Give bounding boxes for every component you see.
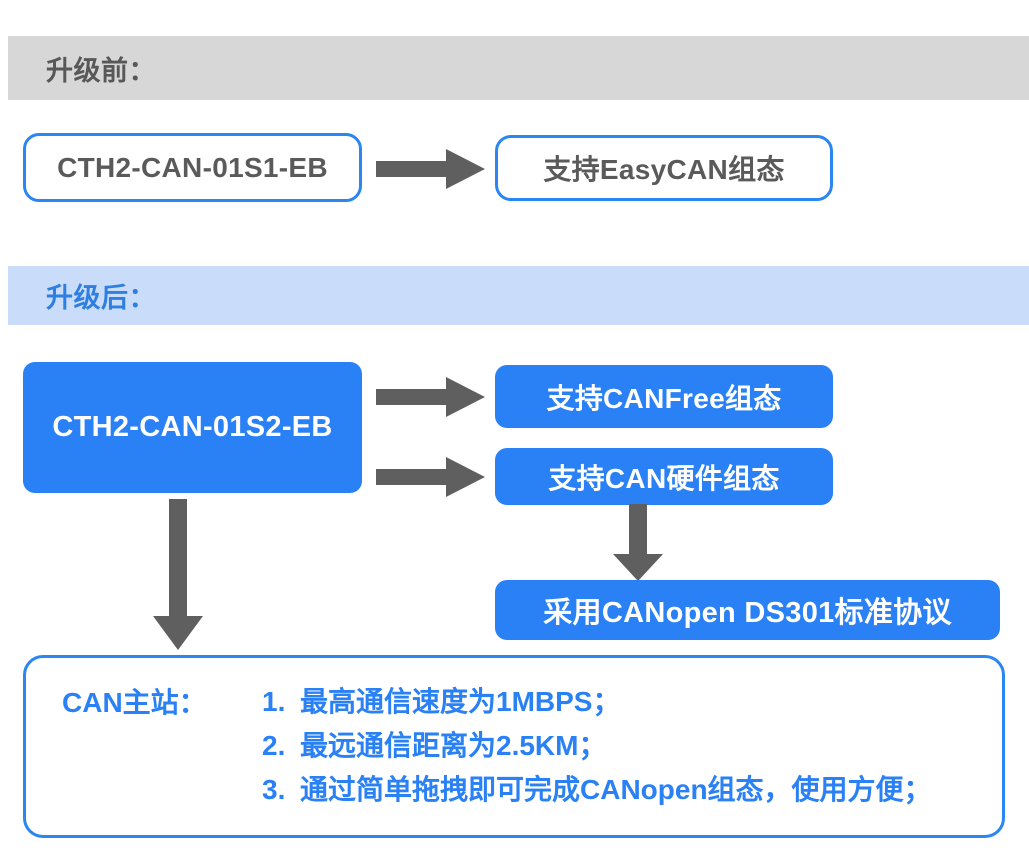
canhw-feature-box[interactable]: 支持CAN硬件组态 (495, 448, 833, 505)
master-spec-item: 3. 通过简单拖拽即可完成CANopen组态，使用方便； (262, 768, 932, 812)
arrow-right-icon-canhw (376, 456, 486, 498)
arrow-down-icon-canopen (612, 504, 664, 582)
master-spec-box[interactable]: CAN主站： 1. 最高通信速度为1MBPS； 2. 最远通信距离为2.5KM；… (23, 655, 1005, 838)
section-band-after: 升级后： (8, 266, 1029, 325)
canopen-protocol-box[interactable]: 采用CANopen DS301标准协议 (495, 580, 1000, 640)
section-band-before-label: 升级前： (46, 49, 156, 88)
diagram-canvas: 升级前： CTH2-CAN-01S1-EB 支持EasyCAN组态 升级后： C… (0, 0, 1029, 864)
canopen-protocol-label: 采用CANopen DS301标准协议 (543, 589, 952, 631)
master-spec-item-text: 最远通信距离为2.5KM； (300, 724, 606, 768)
master-spec-item: 2. 最远通信距离为2.5KM； (262, 724, 932, 768)
master-spec-item-number: 2. (262, 724, 300, 768)
canfree-feature-box[interactable]: 支持CANFree组态 (495, 365, 833, 428)
master-spec-item: 1. 最高通信速度为1MBPS； (262, 680, 932, 724)
master-spec-item-text: 最高通信速度为1MBPS； (300, 680, 620, 724)
canhw-feature-label: 支持CAN硬件组态 (548, 457, 779, 497)
arrow-down-icon-master (152, 499, 204, 651)
master-spec-item-number: 1. (262, 680, 300, 724)
old-feature-box[interactable]: 支持EasyCAN组态 (495, 135, 833, 201)
old-model-box[interactable]: CTH2-CAN-01S1-EB (23, 133, 362, 202)
arrow-right-icon-before (376, 148, 486, 190)
section-band-after-label: 升级后： (46, 276, 156, 315)
section-band-before: 升级前： (8, 36, 1029, 100)
master-spec-list: 1. 最高通信速度为1MBPS； 2. 最远通信距离为2.5KM； 3. 通过简… (262, 680, 932, 812)
master-spec-item-text: 通过简单拖拽即可完成CANopen组态，使用方便； (300, 768, 932, 812)
old-feature-label: 支持EasyCAN组态 (543, 148, 784, 188)
master-spec-title: CAN主站： (62, 680, 262, 721)
old-model-label: CTH2-CAN-01S1-EB (57, 152, 328, 184)
canfree-feature-label: 支持CANFree组态 (546, 377, 781, 417)
new-model-label: CTH2-CAN-01S2-EB (52, 411, 332, 444)
arrow-right-icon-canfree (376, 376, 486, 418)
master-spec-content: CAN主站： 1. 最高通信速度为1MBPS； 2. 最远通信距离为2.5KM；… (62, 680, 984, 812)
new-model-box[interactable]: CTH2-CAN-01S2-EB (23, 362, 362, 493)
master-spec-item-number: 3. (262, 768, 300, 812)
